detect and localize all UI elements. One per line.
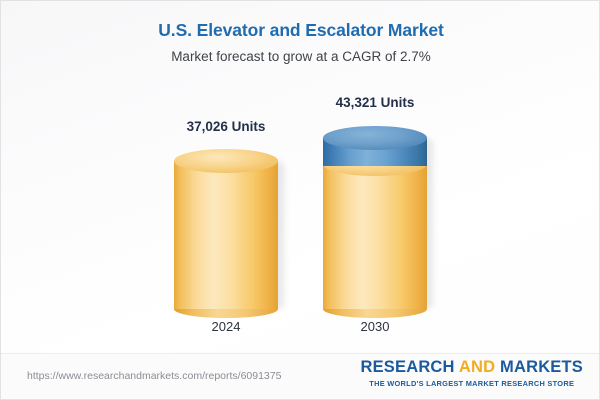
logo-word-and-text: AND [459,358,495,376]
bar-cylinder-2024[interactable] [174,149,278,309]
x-axis-label-2030: 2030 [323,319,427,334]
bar-cylinder-2030[interactable] [323,126,427,309]
bar-top-cap-2024 [174,149,278,173]
report-url-link[interactable]: https://www.researchandmarkets.com/repor… [27,370,281,382]
logo-word-research: RESEARCH [360,358,454,376]
bar-value-label-2030: 43,321 Units [323,95,427,110]
bar-top-cap-2030 [323,126,427,150]
research-and-markets-logo[interactable]: RESEARCH AND MARKETS THE WORLD'S LARGEST… [360,358,583,388]
bar-value-label-2024: 37,026 Units [174,119,278,134]
bar-segment-base-2030 [323,164,427,309]
bar-segment-base-2024 [174,161,278,309]
chart-plot-area: 37,026 Units 2024 43,321 Units 2030 [1,1,600,353]
infographic-card: U.S. Elevator and Escalator Market Marke… [0,0,600,400]
footer-bar: https://www.researchandmarkets.com/repor… [1,353,600,400]
x-axis-label-2024: 2024 [174,319,278,334]
logo-word-markets: MARKETS [500,358,583,376]
logo-wordmark: RESEARCH AND MARKETS [360,358,583,377]
logo-tagline: THE WORLD'S LARGEST MARKET RESEARCH STOR… [360,379,583,388]
